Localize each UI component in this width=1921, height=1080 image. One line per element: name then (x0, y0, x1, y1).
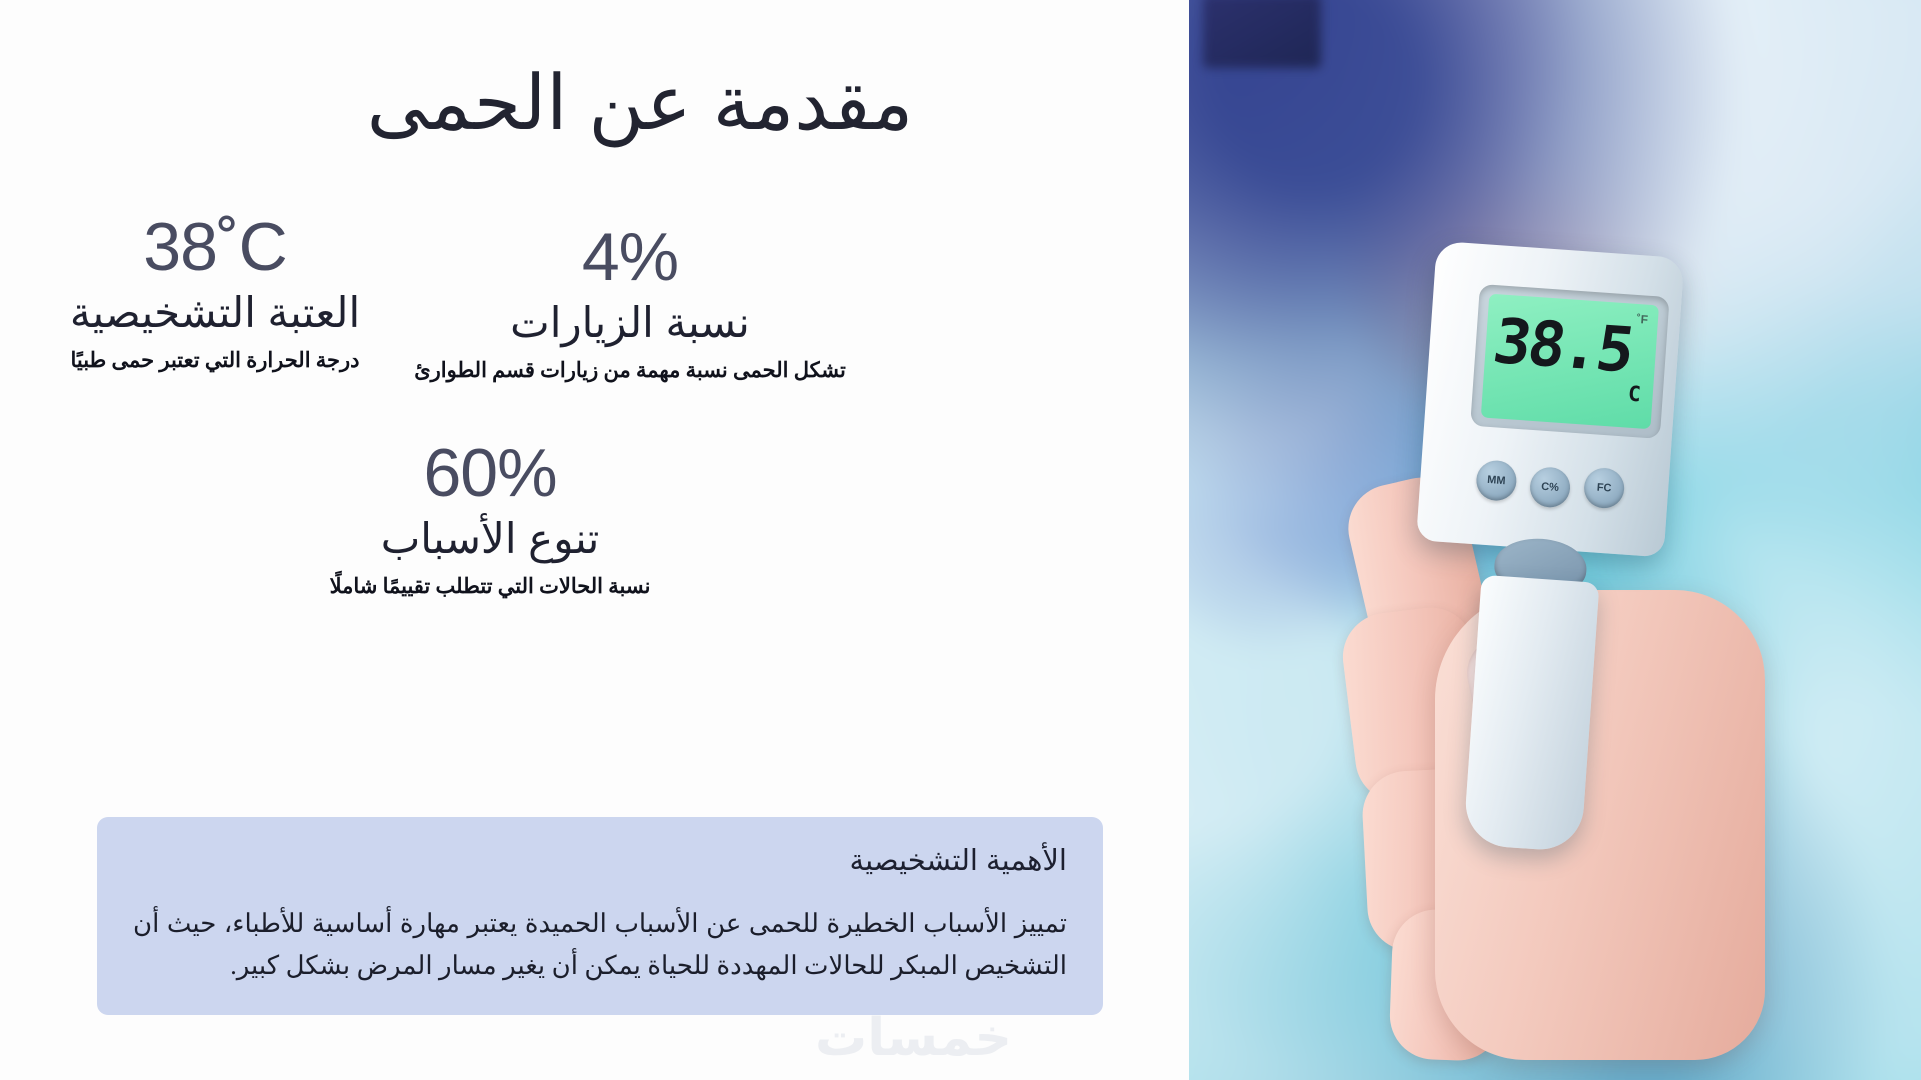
stat-value-visits: 4% (350, 222, 910, 293)
thermometer-unit-label: C (1627, 382, 1641, 407)
thermometer-reading: 38.5 (1489, 310, 1636, 381)
diagnostic-importance-callout: الأهمية التشخيصية تمييز الأسباب الخطيرة … (97, 817, 1103, 1015)
page-title: مقدمة عن الحمى (95, 58, 1185, 149)
monitor-screen-icon (1203, 0, 1321, 68)
slide-root: مقدمة عن الحمى 38˚C العتبة التشخيصية درج… (0, 0, 1921, 1080)
content-panel: مقدمة عن الحمى 38˚C العتبة التشخيصية درج… (0, 0, 1185, 1080)
watermark: خمسات (815, 1008, 1012, 1068)
thermometer-photo-panel: 38.5 C ˚F MM C% FC (1189, 0, 1921, 1080)
thermometer-unit-superscript: ˚F (1636, 312, 1648, 327)
callout-heading: الأهمية التشخيصية (133, 843, 1067, 881)
thermometer-button-cf[interactable]: C% (1529, 466, 1572, 509)
thermometer-body: 38.5 C ˚F MM C% FC (1416, 241, 1684, 558)
callout-body: تمييز الأسباب الخطيرة للحمى عن الأسباب ا… (133, 903, 1067, 987)
stat-description-visits: تشكل الحمى نسبة مهمة من زيارات قسم الطوا… (350, 356, 910, 384)
stat-label-visits: نسبة الزيارات (350, 297, 910, 350)
stat-value-causes: 60% (250, 438, 730, 509)
thermometer-button-fc[interactable]: FC (1583, 467, 1626, 510)
stat-block-visits: 4% نسبة الزيارات تشكل الحمى نسبة مهمة من… (350, 222, 910, 384)
infrared-thermometer: 38.5 C ˚F MM C% FC (1376, 240, 1738, 881)
stat-description-causes: نسبة الحالات التي تتطلب تقييمًا شاملًا (250, 572, 730, 600)
thermometer-handle (1463, 575, 1600, 853)
stat-block-causes: 60% تنوع الأسباب نسبة الحالات التي تتطلب… (250, 438, 730, 600)
thermometer-button-mm[interactable]: MM (1475, 459, 1518, 502)
thermometer-lcd-screen: 38.5 C ˚F (1481, 294, 1659, 430)
stat-label-causes: تنوع الأسباب (250, 513, 730, 566)
thermometer-screen-frame: 38.5 C ˚F (1470, 284, 1669, 439)
